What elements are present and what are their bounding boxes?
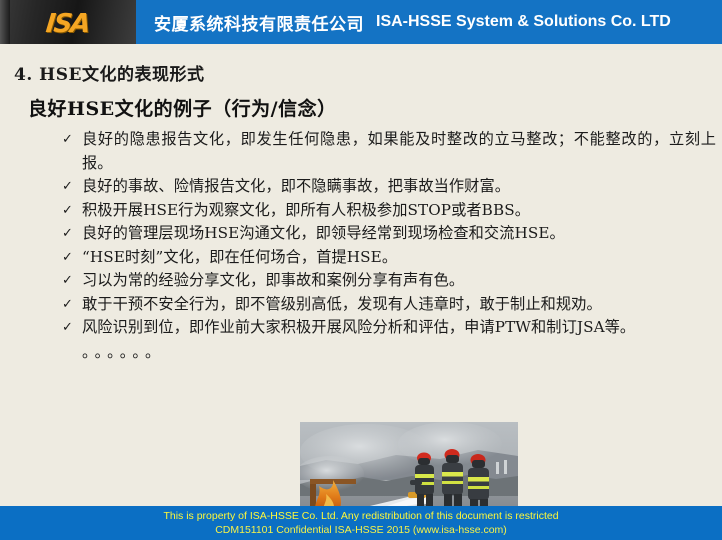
- ellipsis-label: 。。。。。。: [62, 342, 165, 362]
- check-icon: ✓: [62, 293, 82, 317]
- list-item-label: 风险识别到位，即作业前大家积极开展风险分析和评估，申请PTW和制订JSA等。: [82, 316, 716, 340]
- company-name-english: ISA-HSSE System & Solutions Co. LTD: [376, 13, 671, 31]
- check-icon: ✓: [62, 316, 82, 340]
- list-item: ✓ 风险识别到位，即作业前大家积极开展风险分析和评估，申请PTW和制订JSA等。: [62, 316, 716, 340]
- list-item-label: 敢于干预不安全行为，即不管级别高低，发现有人违章时，敢于制止和规劝。: [82, 293, 716, 317]
- logo-panel: ISA: [0, 0, 136, 44]
- footer-copyright-line: This is property of ISA-HSSE Co. Ltd. An…: [0, 509, 722, 523]
- check-icon: ✓: [62, 222, 82, 246]
- list-item: ✓ 良好的事故、险情报告文化，即不隐瞒事故，把事故当作财富。: [62, 175, 716, 199]
- list-item-label: 良好的事故、险情报告文化，即不隐瞒事故，把事故当作财富。: [82, 175, 716, 199]
- list-item: ✓ 敢于干预不安全行为，即不管级别高低，发现有人违章时，敢于制止和规劝。: [62, 293, 716, 317]
- list-item-ellipsis: 。。。。。。: [62, 342, 716, 362]
- company-name-chinese: 安厦系统科技有限责任公司: [154, 10, 364, 35]
- bullet-list: ✓ 良好的隐患报告文化，即发生任何隐患，如果能及时整改的立马整改；不能整改的，立…: [62, 128, 716, 362]
- list-item: ✓ 习以为常的经验分享文化，即事故和案例分享有声有色。: [62, 269, 716, 293]
- list-item-label: “HSE时刻”文化，即在任何场合，首提HSE。: [82, 246, 716, 270]
- slide-header: ISA 安厦系统科技有限责任公司 ISA-HSSE System & Solut…: [0, 0, 722, 44]
- slide-footer: This is property of ISA-HSSE Co. Ltd. An…: [0, 506, 722, 540]
- list-item-label: 良好的管理层现场HSE沟通文化，即领导经常到现场检查和交流HSE。: [82, 222, 716, 246]
- list-item: ✓ 积极开展HSE行为观察文化，即所有人积极参加STOP或者BBS。: [62, 199, 716, 223]
- page-subtitle: 良好HSE文化的例子（行为/信念）: [28, 94, 337, 121]
- check-icon: ✓: [62, 199, 82, 223]
- list-item-label: 习以为常的经验分享文化，即事故和案例分享有声有色。: [82, 269, 716, 293]
- list-item: ✓ “HSE时刻”文化，即在任何场合，首提HSE。: [62, 246, 716, 270]
- check-icon: ✓: [62, 246, 82, 270]
- list-item-label: 良好的隐患报告文化，即发生任何隐患，如果能及时整改的立马整改；不能整改的，立刻上…: [82, 128, 716, 175]
- footer-document-id-line: CDM151101 Confidential ISA-HSSE 2015 (ww…: [0, 523, 722, 537]
- isa-logo-icon: ISA: [44, 9, 90, 39]
- list-item-label: 积极开展HSE行为观察文化，即所有人积极参加STOP或者BBS。: [82, 199, 716, 223]
- check-icon: ✓: [62, 175, 82, 199]
- check-icon: ✓: [62, 269, 82, 293]
- header-title-panel: 安厦系统科技有限责任公司 ISA-HSSE System & Solutions…: [136, 0, 722, 44]
- slide-canvas: ISA 安厦系统科技有限责任公司 ISA-HSSE System & Solut…: [0, 0, 722, 540]
- check-icon: ✓: [62, 128, 82, 152]
- list-item: ✓ 良好的隐患报告文化，即发生任何隐患，如果能及时整改的立马整改；不能整改的，立…: [62, 128, 716, 175]
- page-title: 4. HSE文化的表现形式: [14, 60, 204, 85]
- list-item: ✓ 良好的管理层现场HSE沟通文化，即领导经常到现场检查和交流HSE。: [62, 222, 716, 246]
- slide-body: 4. HSE文化的表现形式 良好HSE文化的例子（行为/信念） ✓ 良好的隐患报…: [0, 44, 722, 506]
